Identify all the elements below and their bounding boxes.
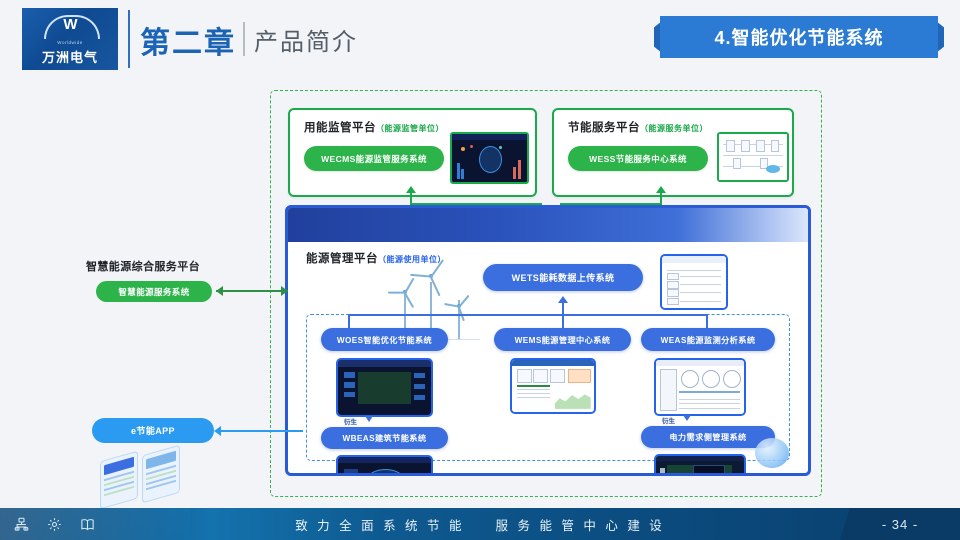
logo-mark-icon: W [44,13,96,39]
wems-pill[interactable]: WEMS能源管理中心系统 [494,328,631,351]
service-platform-box: 节能服务平台（能源服务单位） WESS节能服务中心系统 [552,108,794,197]
wets-feed-stem [562,303,564,314]
left-connector-arrow-left [216,286,223,296]
chapter-title: 第二章 [140,18,236,62]
weas-derive-label: 衍生 [662,415,675,425]
mobile-phones-illustration [98,448,206,496]
service-platform-title-main: 节能服务平台 [568,122,640,134]
supervision-thumbnail [450,132,529,184]
supervision-platform-title: 用能监管平台（能源监管单位） [304,119,444,135]
logo-chinese-name: 万洲电气 [42,47,98,66]
service-platform-title-note: （能源服务单位） [640,124,708,133]
decorative-cloud-blob [755,438,789,468]
smart-energy-platform-title: 智慧能源综合服务平台 [86,258,200,274]
wets-feed-arrow [558,296,568,303]
header-divider-thin [243,22,245,56]
page-header: W Worldwide 万洲电气 第二章 产品简介 4.智能优化节能系统 [0,0,960,80]
left-connector-arrow-right [281,286,288,296]
report-document-thumbnail [660,254,728,310]
energy-platform-title: 能源管理平台（能源使用单位） [306,250,446,266]
wess-pill[interactable]: WESS节能服务中心系统 [568,146,708,171]
wecms-pill[interactable]: WECMS能源监管服务系统 [304,146,444,171]
wems-thumbnail [510,358,596,414]
panel-decor-gradient [288,208,808,242]
logo-letter: W [44,17,96,33]
wets-upload-pill[interactable]: WETS能耗数据上传系统 [483,264,643,291]
supervision-platform-title-main: 用能监管平台 [304,122,376,134]
energy-management-platform-panel: 能源管理平台（能源使用单位） [285,205,811,476]
connector-up-left-arrow [406,186,416,193]
weas-derive-arrow [683,415,691,421]
weas-thumbnail [654,358,746,416]
e-energy-app-pill[interactable]: e节能APP [92,418,214,443]
supervision-platform-box: 用能监管平台（能源监管单位） WECMS能源监管服务系统 [288,108,537,197]
service-platform-title: 节能服务平台（能源服务单位） [568,119,708,135]
page-footer: 致 力 全 面 系 统 节 能 服 务 能 管 中 心 建 设 - 34 - [0,508,960,540]
wbeas-thumbnail [336,455,433,476]
wets-feed-bus [348,314,708,316]
woes-derive-label: 衍生 [344,416,357,426]
smart-energy-service-pill[interactable]: 智慧能源服务系统 [96,281,212,302]
badge-body: 4.智能优化节能系统 [660,16,938,58]
app-connector-arrow [214,426,221,436]
woes-derive-arrow [365,416,373,422]
badge-label: 4.智能优化节能系统 [714,24,883,50]
app-connector-line [218,430,303,432]
woes-pill[interactable]: WOES智能优化节能系统 [321,328,448,351]
company-logo: W Worldwide 万洲电气 [22,8,118,70]
weas-pill[interactable]: WEAS能源监测分析系统 [641,328,775,351]
page-number: - 34 - [840,508,960,540]
power-demand-pill[interactable]: 电力需求侧管理系统 [641,426,775,448]
section-badge: 4.智能优化节能系统 [654,16,944,58]
header-divider-accent [128,10,130,68]
wbeas-pill[interactable]: WBEAS建筑节能系统 [321,427,448,449]
supervision-platform-title-note: （能源监管单位） [376,124,444,133]
logo-latin-text: Worldwide [57,40,82,45]
architecture-diagram: 用能监管平台（能源监管单位） WECMS能源监管服务系统 节能服务平台（能源服务… [0,80,960,508]
energy-platform-title-main: 能源管理平台 [306,253,378,265]
energy-platform-title-note: （能源使用单位） [378,255,446,264]
connector-up-right-arrow [656,186,666,193]
footer-slogan: 致 力 全 面 系 统 节 能 服 务 能 管 中 心 建 设 [0,508,960,540]
service-thumbnail [717,132,789,182]
page-subtitle: 产品简介 [254,22,358,57]
power-demand-thumbnail [654,454,746,476]
woes-thumbnail [336,358,433,417]
left-connector-line [216,290,288,292]
